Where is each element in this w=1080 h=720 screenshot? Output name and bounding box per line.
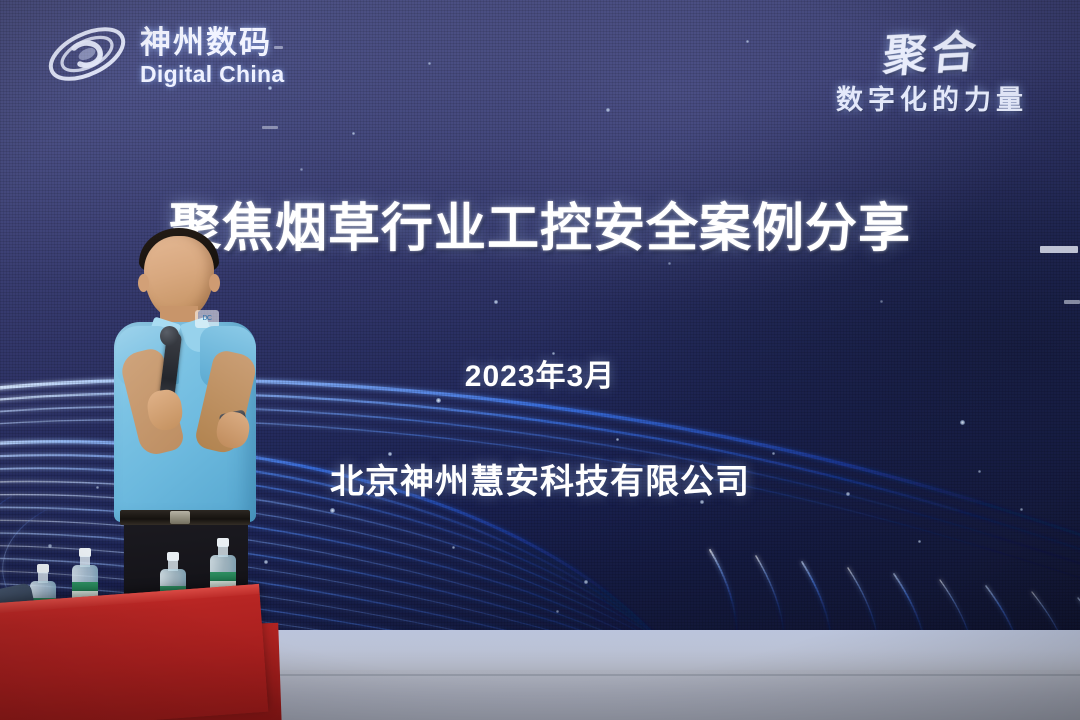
speaker-ear-right: [209, 274, 220, 292]
brand-name-en: Digital China: [140, 63, 284, 86]
foreground-table-red-cloth: [0, 584, 268, 720]
digital-china-spiral-icon: [44, 18, 130, 90]
speaker-ear-left: [138, 274, 149, 292]
brand-text-block: 神州数码 Digital China: [140, 23, 284, 86]
microphone-head: [160, 326, 179, 346]
calligraphy-sub: 数字化的力量: [802, 78, 1062, 117]
brand-name-cn: 神州数码: [140, 27, 284, 58]
brand-logo: 神州数码 Digital China: [44, 18, 284, 90]
calligraphy-block: 聚合 数字化的力量: [802, 18, 1062, 117]
speaker-person: DC: [92, 222, 282, 632]
conference-stage-photo: 神州数码 Digital China 聚合 数字化的力量 聚焦烟草行业工控安全案…: [0, 0, 1080, 720]
calligraphy-main: 聚合: [881, 16, 983, 85]
speaker-belt-buckle: [170, 511, 190, 524]
